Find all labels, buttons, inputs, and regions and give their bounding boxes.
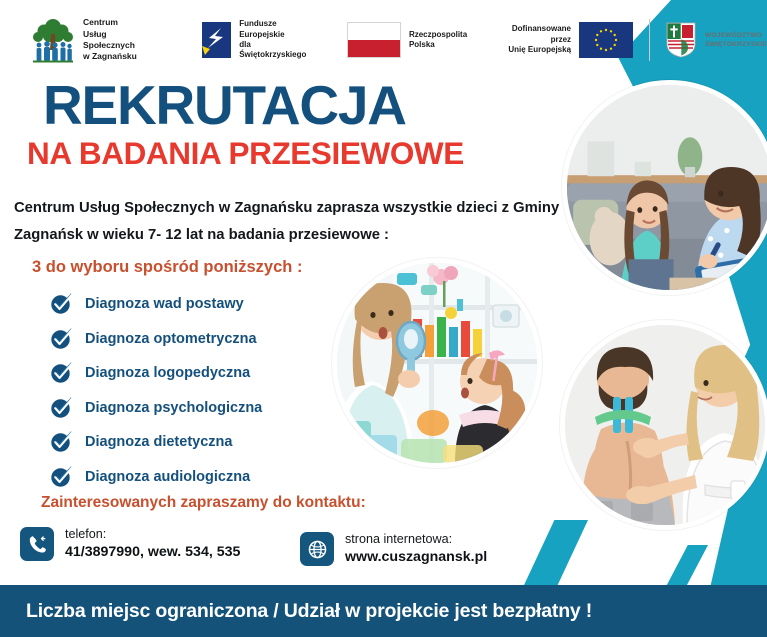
list-item-label: Diagnoza psychologiczna [85,400,262,416]
check-circle-icon [50,466,74,488]
globe-icon [300,532,334,566]
list-item-label: Diagnoza optometryczna [85,331,257,347]
logo-woj-label: WOJEWÓDZTWO ŚWIĘTOKRZYSKIE [705,31,767,49]
eu-flag-icon [579,22,633,58]
page-title: REKRUTACJA [43,78,406,133]
contact-website[interactable]: strona internetowa: www.cuszagnansk.pl [300,531,487,567]
list-item: Diagnoza logopedyczna [50,358,262,388]
bottom-banner: Liczba miejsc ograniczona / Udział w pro… [0,585,767,637]
phone-icon [20,527,54,561]
contact-phone-value: 41/3897990, wew. 534, 535 [65,543,240,562]
check-circle-icon [50,397,74,419]
logo-divider [649,19,650,61]
list-item-label: Diagnoza audiologiczna [85,469,250,485]
check-circle-icon [50,293,74,315]
logo-rzeczpospolita-polska: Rzeczpospolita Polska [347,22,467,58]
logo-pl-label: Rzeczpospolita Polska [409,30,467,51]
check-circle-icon [50,431,74,453]
logo-bar: Centrum Usług Społecznych w Zagnańsku Fu… [30,10,767,70]
contact-phone[interactable]: telefon: 41/3897990, wew. 534, 535 [20,526,240,562]
contact-phone-label: telefon: [65,526,240,543]
logo-wojewodztwo-swietokrzyskie: WOJEWÓDZTWO ŚWIĘTOKRZYSKIE [666,22,767,58]
check-circle-icon [50,328,74,350]
check-circle-icon [50,362,74,384]
logo-centrum-uslug-spolecznych: Centrum Usług Społecznych w Zagnańsku [30,16,139,64]
list-item-label: Diagnoza dietetyczna [85,434,232,450]
photo-speech-therapist-with-girl [332,258,542,468]
tree-people-logo-icon [30,16,76,64]
contact-website-label: strona internetowa: [345,531,487,548]
list-item: Diagnoza optometryczna [50,324,262,354]
logo-unia-europejska: Dofinansowane przez Unię Europejską [495,22,633,58]
swietokrzyskie-coat-of-arms-icon [666,22,696,58]
logo-cus-label: Centrum Usług Społecznych w Zagnańsku [83,17,139,63]
photo-psychologist-with-girl [562,80,767,295]
intro-paragraph: Centrum Usług Społecznych w Zagnańsku za… [14,195,574,250]
list-item: Diagnoza psychologiczna [50,393,262,423]
list-item: Diagnoza dietetyczna [50,427,262,457]
list-item-label: Diagnoza logopedyczna [85,365,250,381]
photo-physiotherapist-with-boy [560,320,767,530]
choose-heading: 3 do wyboru spośród poniższych : [32,258,302,277]
list-item-label: Diagnoza wad postawy [85,296,244,312]
contact-heading: Zainteresowanych zapraszamy do kontaktu: [41,494,366,512]
bottom-banner-text: Liczba miejsc ograniczona / Udział w pro… [26,600,592,623]
list-item: Diagnoza wad postawy [50,289,262,319]
list-item: Diagnoza audiologiczna [50,462,262,492]
fe-star-logo-icon [199,22,231,58]
diagnosis-checklist: Diagnoza wad postawy Diagnoza optometryc… [50,289,262,496]
polish-flag-icon [347,22,401,58]
recruitment-poster: Centrum Usług Społecznych w Zagnańsku Fu… [0,0,767,637]
logo-eu-label: Dofinansowane przez Unię Europejską [495,24,571,55]
logo-fe-label: Fundusze Europejskie dla Świętokrzyskieg… [239,19,319,61]
page-subtitle: NA BADANIA PRZESIEWOWE [27,138,464,170]
logo-fundusze-europejskie: Fundusze Europejskie dla Świętokrzyskieg… [199,19,319,61]
contact-website-value: www.cuszagnansk.pl [345,548,487,567]
